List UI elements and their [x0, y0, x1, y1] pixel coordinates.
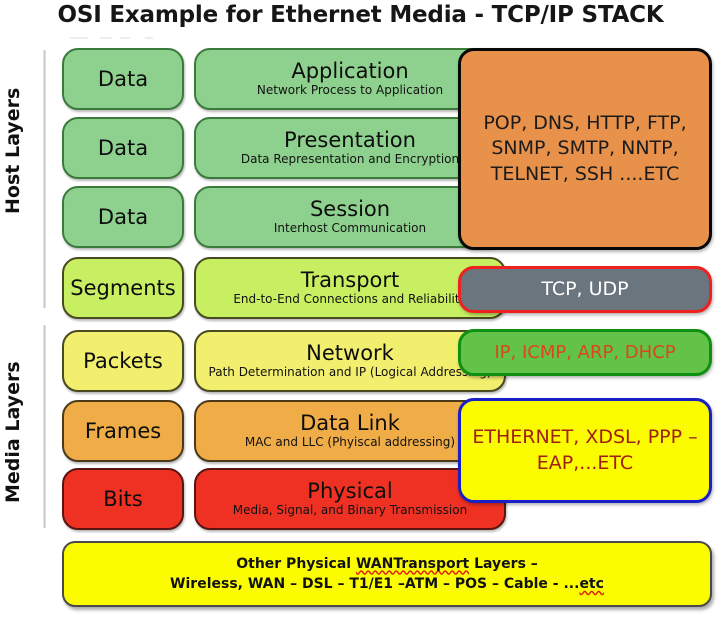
layer-name: Data Link: [300, 413, 400, 434]
scan-artifact: [145, 37, 153, 39]
pdu-label: Packets: [83, 351, 163, 372]
protocol-box-datalink[interactable]: ETHERNET, XDSL, PPP – EAP,...ETC: [458, 398, 712, 503]
pdu-label: Segments: [70, 278, 175, 299]
layer-description: MAC and LLC (Phyiscal addressing): [241, 436, 459, 449]
pdu-physical[interactable]: Bits: [62, 468, 184, 530]
pdu-application[interactable]: Data: [62, 48, 184, 110]
protocol-box-network[interactable]: IP, ICMP, ARP, DHCP: [458, 329, 712, 376]
protocol-list: TCP, UDP: [533, 277, 636, 302]
pdu-network[interactable]: Packets: [62, 330, 184, 392]
media-layers-bracket: [43, 325, 46, 528]
pdu-label: Data: [98, 207, 148, 228]
scan-artifact: [100, 37, 112, 39]
banner-line-2-misspelled: etc: [579, 576, 604, 592]
protocol-box-application[interactable]: POP, DNS, HTTP, FTP, SNMP, SMTP, NNTP, T…: [458, 48, 712, 250]
other-physical-wan-banner[interactable]: Other Physical WANTransport Layers – Wir…: [62, 541, 712, 607]
pdu-presentation[interactable]: Data: [62, 117, 184, 179]
banner-line-1-misspelled: WANTransport: [356, 556, 469, 572]
banner-line-1-part-c: Layers –: [469, 556, 538, 572]
banner-line-2-part-a: Wireless, WAN – DSL – T1/E1 –ATM – POS –…: [170, 576, 579, 592]
layer-name: Physical: [307, 481, 392, 502]
protocol-list: ETHERNET, XDSL, PPP – EAP,...ETC: [461, 425, 709, 475]
layer-description: Path Determination and IP (Logical Addre…: [205, 366, 496, 379]
layer-name: Session: [310, 199, 390, 220]
layer-name: Presentation: [284, 130, 416, 151]
pdu-label: Bits: [103, 489, 142, 510]
media-layers-label: Media Layers: [2, 325, 24, 540]
layer-description: Data Representation and Encryption: [237, 153, 463, 166]
pdu-label: Data: [98, 69, 148, 90]
host-layers-label: Host Layers: [2, 48, 24, 253]
pdu-session[interactable]: Data: [62, 186, 184, 248]
banner-line-2: Wireless, WAN – DSL – T1/E1 –ATM – POS –…: [170, 574, 604, 594]
pdu-datalink[interactable]: Frames: [62, 400, 184, 462]
layer-name: Transport: [301, 270, 400, 291]
layer-description: Interhost Communication: [270, 222, 430, 235]
osi-diagram: OSI Example for Ethernet Media - TCP/IP …: [0, 0, 721, 625]
layer-name: Application: [291, 61, 408, 82]
protocol-box-transport[interactable]: TCP, UDP: [458, 266, 712, 313]
host-layers-bracket: [43, 50, 46, 308]
layer-description: Network Process to Application: [253, 84, 447, 97]
page-title: OSI Example for Ethernet Media - TCP/IP …: [0, 2, 721, 28]
scan-artifact: [120, 37, 130, 39]
banner-line-1-part-a: Other Physical: [236, 556, 356, 572]
pdu-label: Frames: [85, 421, 161, 442]
layer-description: End-to-End Connections and Reliability: [229, 293, 470, 306]
banner-line-1: Other Physical WANTransport Layers –: [236, 554, 538, 574]
layer-name: Network: [306, 343, 394, 364]
pdu-transport[interactable]: Segments: [62, 257, 184, 319]
layer-description: Media, Signal, and Binary Transmission: [229, 504, 471, 517]
scan-artifact: [70, 37, 88, 39]
pdu-label: Data: [98, 138, 148, 159]
protocol-list: IP, ICMP, ARP, DHCP: [486, 341, 683, 365]
protocol-list: POP, DNS, HTTP, FTP, SNMP, SMTP, NNTP, T…: [461, 111, 709, 186]
